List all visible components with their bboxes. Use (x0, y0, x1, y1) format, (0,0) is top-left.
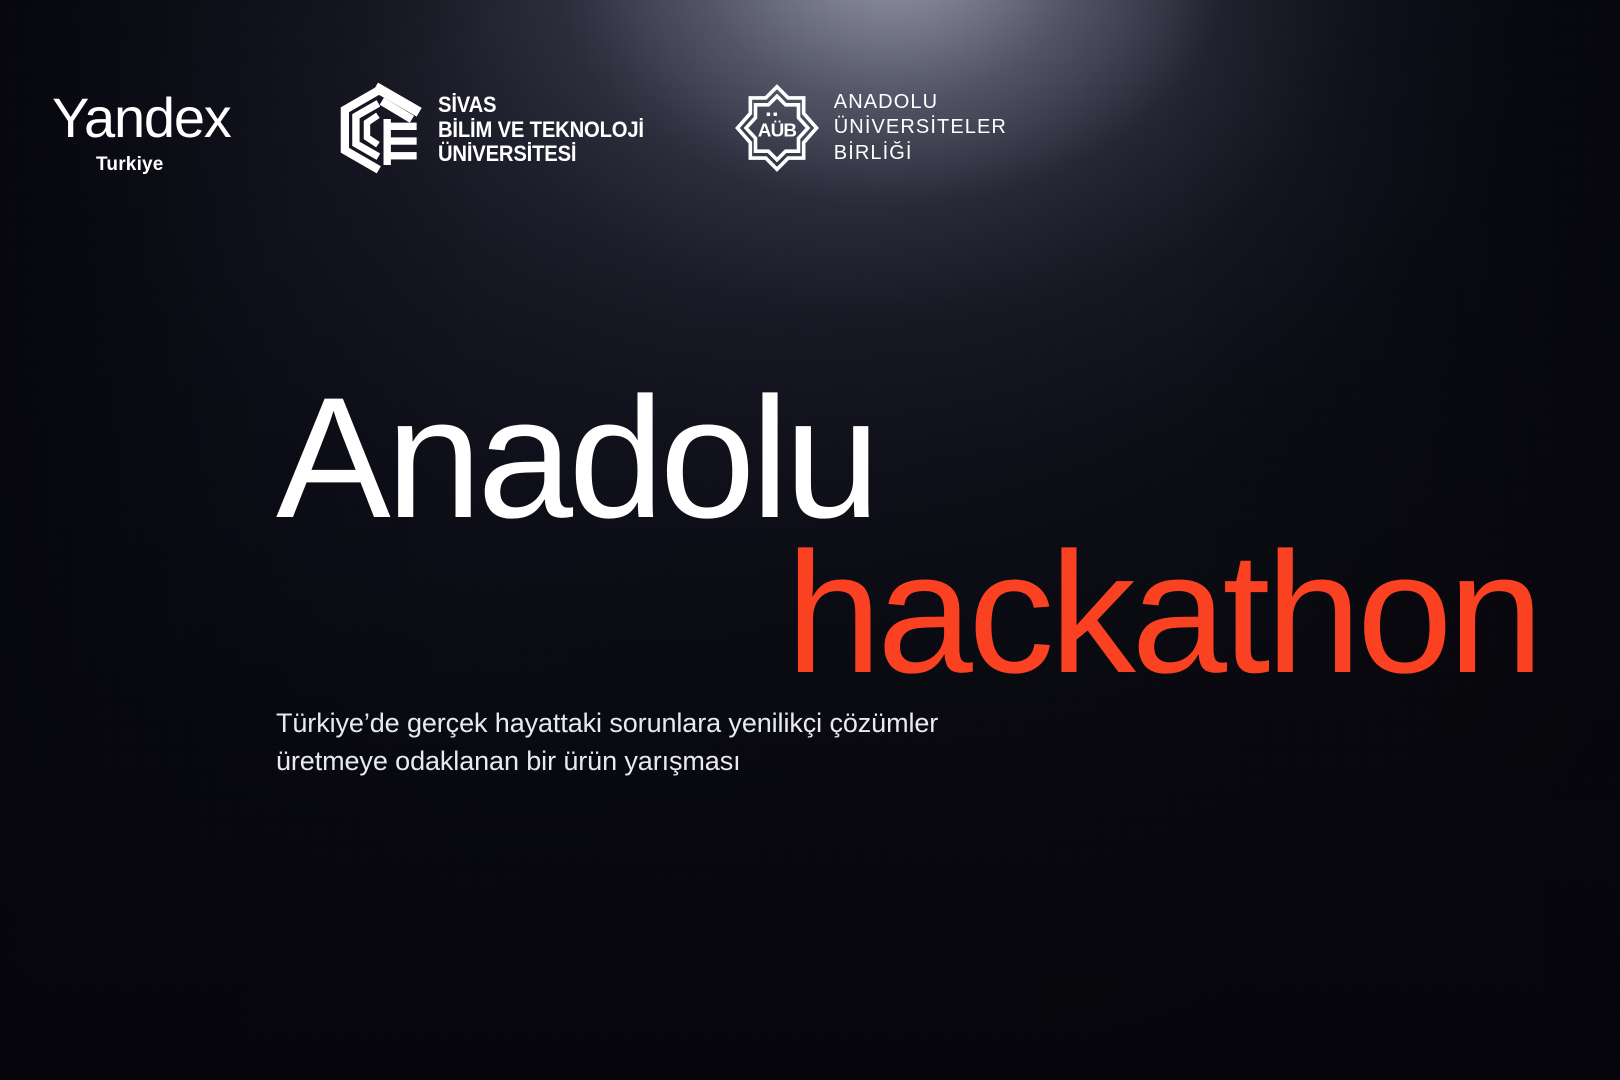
sivas-name-line-3: ÜNİVERSİTESİ (438, 142, 644, 167)
aub-name-line-3: BİRLİĞİ (834, 141, 1007, 166)
hero-subtitle: Türkiye’de gerçek hayattaki sorunlara ye… (276, 704, 938, 781)
yandex-region-label: Turkiye (96, 154, 164, 176)
sivas-cube-emblem-icon (332, 82, 424, 178)
aub-star-emblem-icon: AÜB (734, 82, 820, 174)
logo-anadolu-universiteler-birligi: AÜB ANADOLU ÜNİVERSİTELER BİRLİĞİ (734, 78, 1007, 174)
partner-logo-bar: Yandex Turkiye SİVAS (52, 78, 1007, 178)
sivas-name-line-1: SİVAS (438, 93, 644, 118)
hero-subtitle-line-2: üretmeye odaklanan bir ürün yarışması (276, 742, 938, 780)
hero-subtitle-line-1: Türkiye’de gerçek hayattaki sorunlara ye… (276, 704, 938, 742)
hero-title-line-hackathon: hackathon (0, 529, 1620, 698)
aub-name-line-1: ANADOLU (834, 90, 1007, 115)
aub-name-line-2: ÜNİVERSİTELER (834, 115, 1007, 140)
yandex-wordmark-icon: Yandex (52, 92, 231, 144)
aub-organization-name: ANADOLU ÜNİVERSİTELER BİRLİĞİ (834, 90, 1007, 166)
logo-yandex-turkiye: Yandex Turkiye (52, 78, 264, 176)
hero-title: Anadolu hackathon (0, 374, 1620, 697)
sivas-name-line-2: BİLİM VE TEKNOLOJİ (438, 118, 644, 143)
poster-stage: Yandex Turkiye SİVAS (0, 0, 1620, 1080)
logo-sivas-university: SİVAS BİLİM VE TEKNOLOJİ ÜNİVERSİTESİ (332, 78, 662, 178)
svg-text:AÜB: AÜB (758, 121, 797, 142)
sivas-university-name: SİVAS BİLİM VE TEKNOLOJİ ÜNİVERSİTESİ (438, 93, 644, 167)
